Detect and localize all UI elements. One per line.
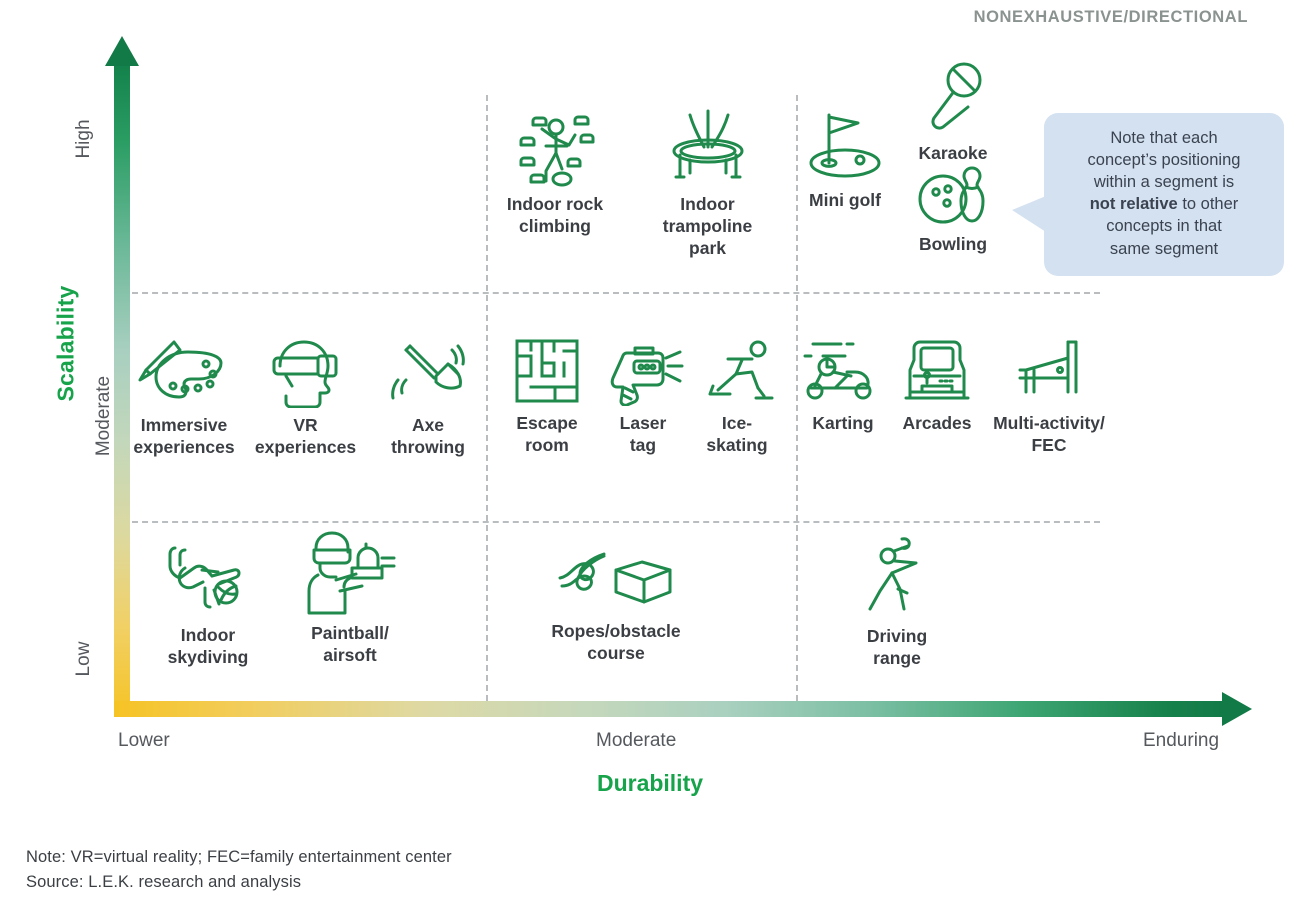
multi-activity-icon — [1014, 336, 1084, 406]
concept-escape-room[interactable]: Escape room — [497, 336, 597, 457]
chart-canvas: NONEXHAUSTIVE/DIRECTIONAL Scalability Du… — [0, 0, 1300, 914]
concept-label: Karting — [812, 413, 873, 435]
concept-label: Paintball/ airsoft — [311, 623, 389, 667]
concept-karting[interactable]: Karting — [800, 336, 886, 435]
concept-label: Karaoke — [918, 143, 987, 165]
concept-label: Indoor rock climbing — [507, 194, 603, 238]
microphone-icon — [922, 60, 984, 136]
concept-label: Bowling — [919, 234, 987, 256]
concept-karaoke[interactable]: Karaoke — [903, 60, 1003, 165]
concept-arcades[interactable]: Arcades — [890, 336, 984, 435]
arcade-cabinet-icon — [902, 336, 972, 406]
callout-line-6: same segment — [1110, 240, 1218, 258]
concept-label: Arcades — [902, 413, 971, 435]
callout-bold-phrase: not relative — [1090, 195, 1178, 213]
concept-label: Immersive experiences — [133, 415, 234, 459]
footnote-source: Source: L.E.K. research and analysis — [26, 873, 301, 892]
callout-line-3: within a segment is — [1094, 173, 1234, 191]
callout-pointer — [1012, 196, 1046, 232]
concept-axe-throwing[interactable]: Axe throwing — [372, 336, 484, 459]
concept-indoor-skydiving[interactable]: Indoor skydiving — [145, 540, 271, 669]
callout-line-1: Note that each — [1110, 129, 1217, 147]
skydiver-icon — [161, 540, 255, 618]
concept-label: Multi-activity/ FEC — [993, 413, 1105, 457]
concept-paintball-airsoft[interactable]: Paintball/ airsoft — [288, 528, 412, 667]
vr-headset-icon — [268, 336, 344, 408]
mini-golf-icon — [800, 105, 890, 183]
concept-bowling[interactable]: Bowling — [903, 163, 1003, 256]
concept-label: Mini golf — [809, 190, 881, 212]
ice-skater-icon — [700, 336, 774, 406]
x-tick-enduring: Enduring — [1143, 730, 1219, 752]
concept-label: Ropes/obstacle course — [551, 621, 680, 665]
concept-ropes-obstacle-course[interactable]: Ropes/obstacle course — [530, 540, 702, 665]
concept-laser-tag[interactable]: Laser tag — [603, 336, 683, 457]
x-axis-arrow-icon — [1222, 692, 1252, 726]
y-tick-moderate: Moderate — [93, 356, 115, 476]
go-kart-icon — [801, 336, 885, 406]
paint-palette-icon — [138, 336, 230, 408]
gridline-horizontal-moderate-low — [122, 521, 1100, 523]
concept-label: Indoor trampoline park — [663, 194, 752, 260]
golf-swing-icon — [864, 535, 930, 619]
y-tick-high: High — [73, 99, 95, 179]
concept-indoor-rock-climbing[interactable]: Indoor rock climbing — [486, 105, 624, 238]
concept-mini-golf[interactable]: Mini golf — [793, 105, 897, 212]
concept-label: VR experiences — [255, 415, 356, 459]
concept-ice-skating[interactable]: Ice- skating — [695, 336, 779, 457]
y-axis-title: Scalability — [53, 274, 80, 414]
callout-line-2: concept’s positioning — [1088, 151, 1241, 169]
concept-indoor-trampoline-park[interactable]: Indoor trampoline park — [645, 105, 770, 260]
laser-gun-icon — [601, 336, 685, 406]
rock-climbing-icon — [512, 105, 598, 187]
concept-label: Laser tag — [620, 413, 667, 457]
concept-label: Escape room — [516, 413, 577, 457]
x-axis-title: Durability — [0, 770, 1300, 797]
callout-line-5: concepts in that — [1106, 217, 1222, 235]
x-axis-bar — [114, 701, 1224, 717]
gridline-horizontal-high-moderate — [122, 292, 1100, 294]
x-tick-lower: Lower — [118, 730, 170, 752]
concept-driving-range[interactable]: Driving range — [845, 535, 949, 670]
concept-label: Indoor skydiving — [168, 625, 249, 669]
concept-label: Driving range — [867, 626, 927, 670]
footnote-note: Note: VR=virtual reality; FEC=family ent… — [26, 848, 452, 867]
concept-immersive-experiences[interactable]: Immersive experiences — [118, 336, 250, 459]
bowling-icon — [917, 163, 989, 227]
trampoline-icon — [660, 105, 756, 187]
x-tick-moderate: Moderate — [596, 730, 676, 752]
concept-multi-activity-fec[interactable]: Multi-activity/ FEC — [984, 336, 1114, 457]
kicker-label: NONEXHAUSTIVE/DIRECTIONAL — [974, 8, 1248, 27]
callout-note: Note that each concept’s positioning wit… — [1044, 113, 1284, 276]
y-tick-low: Low — [73, 619, 95, 699]
concept-label: Ice- skating — [706, 413, 767, 457]
callout-line-4: to other — [1178, 195, 1239, 213]
y-axis-arrow-icon — [105, 36, 139, 66]
concept-vr-experiences[interactable]: VR experiences — [248, 336, 363, 459]
rope-knot-icon — [554, 540, 678, 614]
paintball-player-icon — [300, 528, 400, 616]
maze-icon — [512, 336, 582, 406]
concept-label: Axe throwing — [391, 415, 465, 459]
axe-icon — [386, 336, 470, 408]
